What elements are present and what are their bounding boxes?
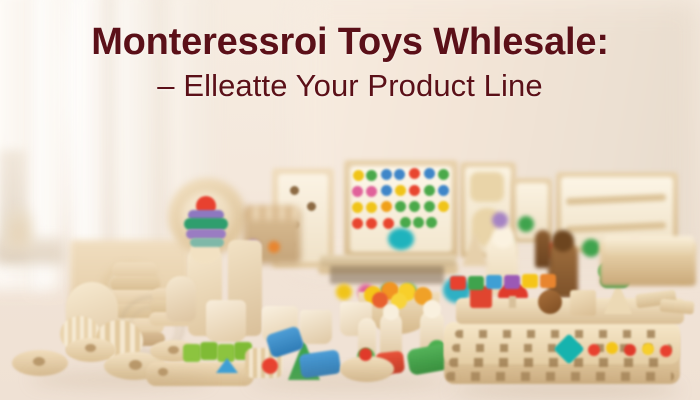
wooden-doll-figure <box>535 230 551 268</box>
background-orange-bead <box>268 241 280 253</box>
peg-doll-head <box>423 300 441 318</box>
abacus-bead <box>381 185 392 196</box>
disc-hole <box>85 344 96 352</box>
wooden-cup-toy <box>206 300 246 342</box>
abacus-bead <box>366 186 377 197</box>
abacus-bead <box>409 201 420 212</box>
red-peg <box>624 344 636 356</box>
wooden-bead-green <box>518 216 534 232</box>
yellow-peg <box>642 343 654 355</box>
wooden-doll-head <box>552 230 574 252</box>
toy-shadow <box>250 374 450 390</box>
peg-hole-row <box>449 358 673 367</box>
abacus-bead <box>424 201 435 212</box>
abacus-bead <box>381 169 392 180</box>
title-line-secondary: – Elleatte Your Product Line <box>0 67 700 106</box>
background-teal-disc <box>388 228 414 250</box>
red-ball-small <box>262 358 278 374</box>
background-table-ball <box>336 284 352 300</box>
rail-peg <box>504 275 520 289</box>
abacus-bead <box>352 202 363 213</box>
promo-banner: Monteressroi Toys Whlesale: – Elleatte Y… <box>0 0 700 400</box>
rail-peg <box>540 274 556 288</box>
rail-peg <box>522 274 538 288</box>
red-lamp-stem <box>509 296 516 308</box>
disc-hole <box>33 357 45 366</box>
red-peg <box>660 345 672 357</box>
abacus-bead <box>395 185 406 196</box>
peg-doll-head <box>383 304 399 320</box>
banner-title: Monteressroi Toys Whlesale: – Elleatte Y… <box>0 22 700 106</box>
abacus-bead <box>366 170 377 181</box>
abacus-bead <box>381 201 392 212</box>
abacus-bead <box>366 202 377 213</box>
red-peg-small <box>359 348 372 361</box>
wooden-doll-head <box>492 226 514 248</box>
ramp-ball <box>582 239 600 257</box>
background-domino-dot <box>307 202 316 211</box>
abacus-bead <box>438 169 449 180</box>
abacus-bead <box>409 185 420 196</box>
rail-peg <box>468 276 484 290</box>
abacus-bead <box>395 201 406 212</box>
blue-triangle-block <box>216 358 238 373</box>
abacus-bead <box>383 218 394 229</box>
background-domino-dot <box>290 186 299 195</box>
stacker-ring-teal <box>190 238 224 247</box>
abacus-bead <box>426 217 437 228</box>
title-line-primary: Monteressroi Toys Whlesale: <box>0 22 700 63</box>
window-plant <box>2 206 36 250</box>
wooden-bead-purple <box>492 212 508 228</box>
abacus-bead <box>409 168 420 179</box>
abacus-bead <box>353 170 364 181</box>
green-gear-block <box>183 344 201 362</box>
wooden-cube-block <box>570 290 596 316</box>
abacus-bead <box>424 168 435 179</box>
right-wooden-box-lid <box>604 236 694 254</box>
background-snowflake-shape <box>470 172 504 202</box>
peg-hole-row <box>446 372 674 381</box>
disc-hole <box>129 360 142 370</box>
wooden-cone-figure <box>462 232 488 266</box>
toy-shadow <box>30 372 210 388</box>
wooden-vase-toy <box>166 276 196 322</box>
abacus-bead <box>400 217 411 228</box>
rail-peg <box>486 275 502 289</box>
disc-hole <box>168 346 179 354</box>
abacus-bead <box>438 185 449 196</box>
background-crown-teeth <box>246 206 298 220</box>
brown-ball-block <box>538 290 562 314</box>
toy-shadow <box>450 382 680 398</box>
abacus-bead <box>424 185 435 196</box>
peg-hole-row <box>455 330 671 338</box>
abacus-bead <box>413 217 424 228</box>
rail-peg <box>450 276 466 290</box>
abacus-bead <box>352 186 363 197</box>
abacus-bead <box>438 201 449 212</box>
yellow-peg <box>606 342 618 354</box>
abacus-bead <box>394 169 405 180</box>
wooden-cup-small <box>300 310 332 344</box>
abacus-bead <box>366 218 377 229</box>
red-peg <box>588 344 600 356</box>
abacus-bead <box>352 218 363 229</box>
